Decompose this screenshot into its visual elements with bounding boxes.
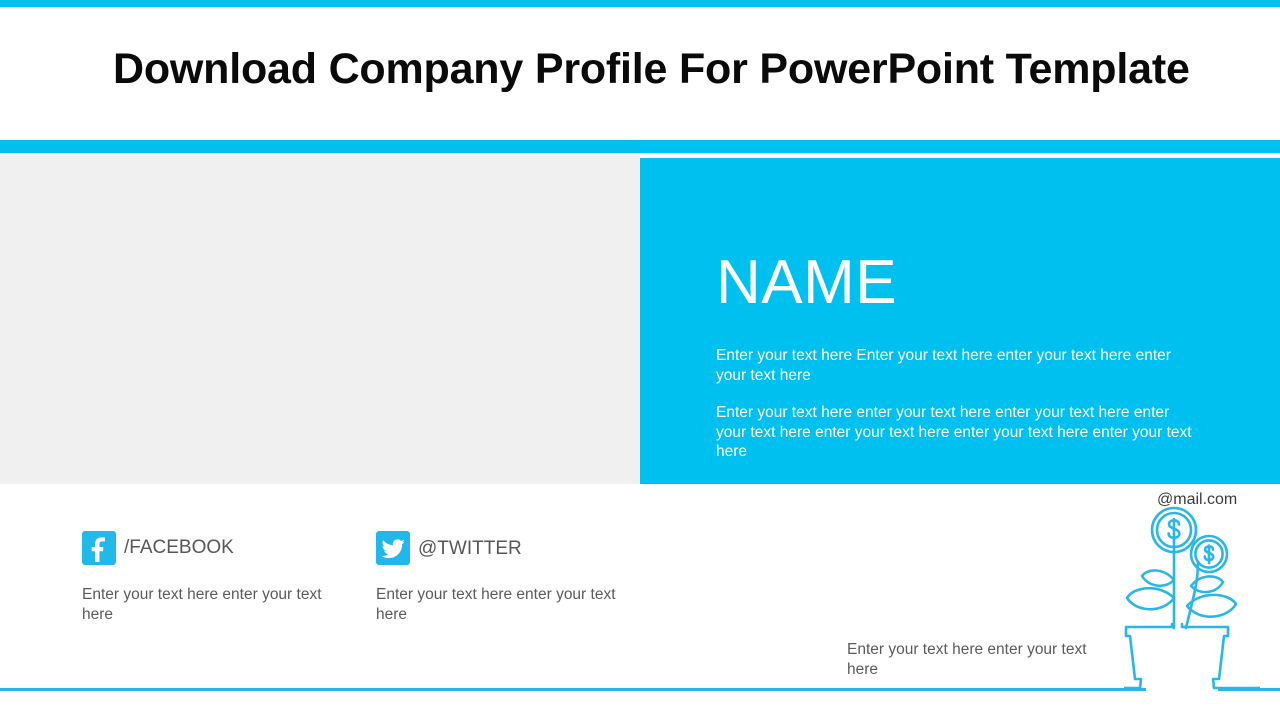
photo-placeholder-panel[interactable] — [0, 155, 640, 484]
slide-canvas: Download Company Profile For PowerPoint … — [0, 0, 1280, 720]
profile-info-panel: NAME Enter your text here Enter your tex… — [640, 158, 1280, 484]
money-plant-icon — [1124, 506, 1260, 696]
facebook-icon[interactable] — [82, 531, 116, 565]
profile-paragraph-2: Enter your text here enter your text her… — [716, 403, 1192, 462]
bottom-rule-left — [0, 688, 1146, 691]
facebook-handle: /FACEBOOK — [124, 537, 234, 559]
twitter-handle: @TWITTER — [418, 538, 522, 560]
profile-name: NAME — [716, 252, 897, 314]
facebook-description: Enter your text here enter your text her… — [82, 585, 338, 624]
title-divider-bar — [0, 140, 1280, 153]
twitter-description: Enter your text here enter your text her… — [376, 585, 632, 624]
title-zone: Download Company Profile For PowerPoint … — [0, 7, 1280, 140]
top-accent-bar — [0, 0, 1280, 7]
contact-caption: Enter your text here enter your text her… — [847, 640, 1109, 679]
twitter-icon[interactable] — [376, 531, 410, 565]
bottom-rule-right — [1218, 688, 1280, 691]
page-title: Download Company Profile For PowerPoint … — [113, 43, 1173, 95]
profile-paragraph-1: Enter your text here Enter your text her… — [716, 346, 1192, 385]
